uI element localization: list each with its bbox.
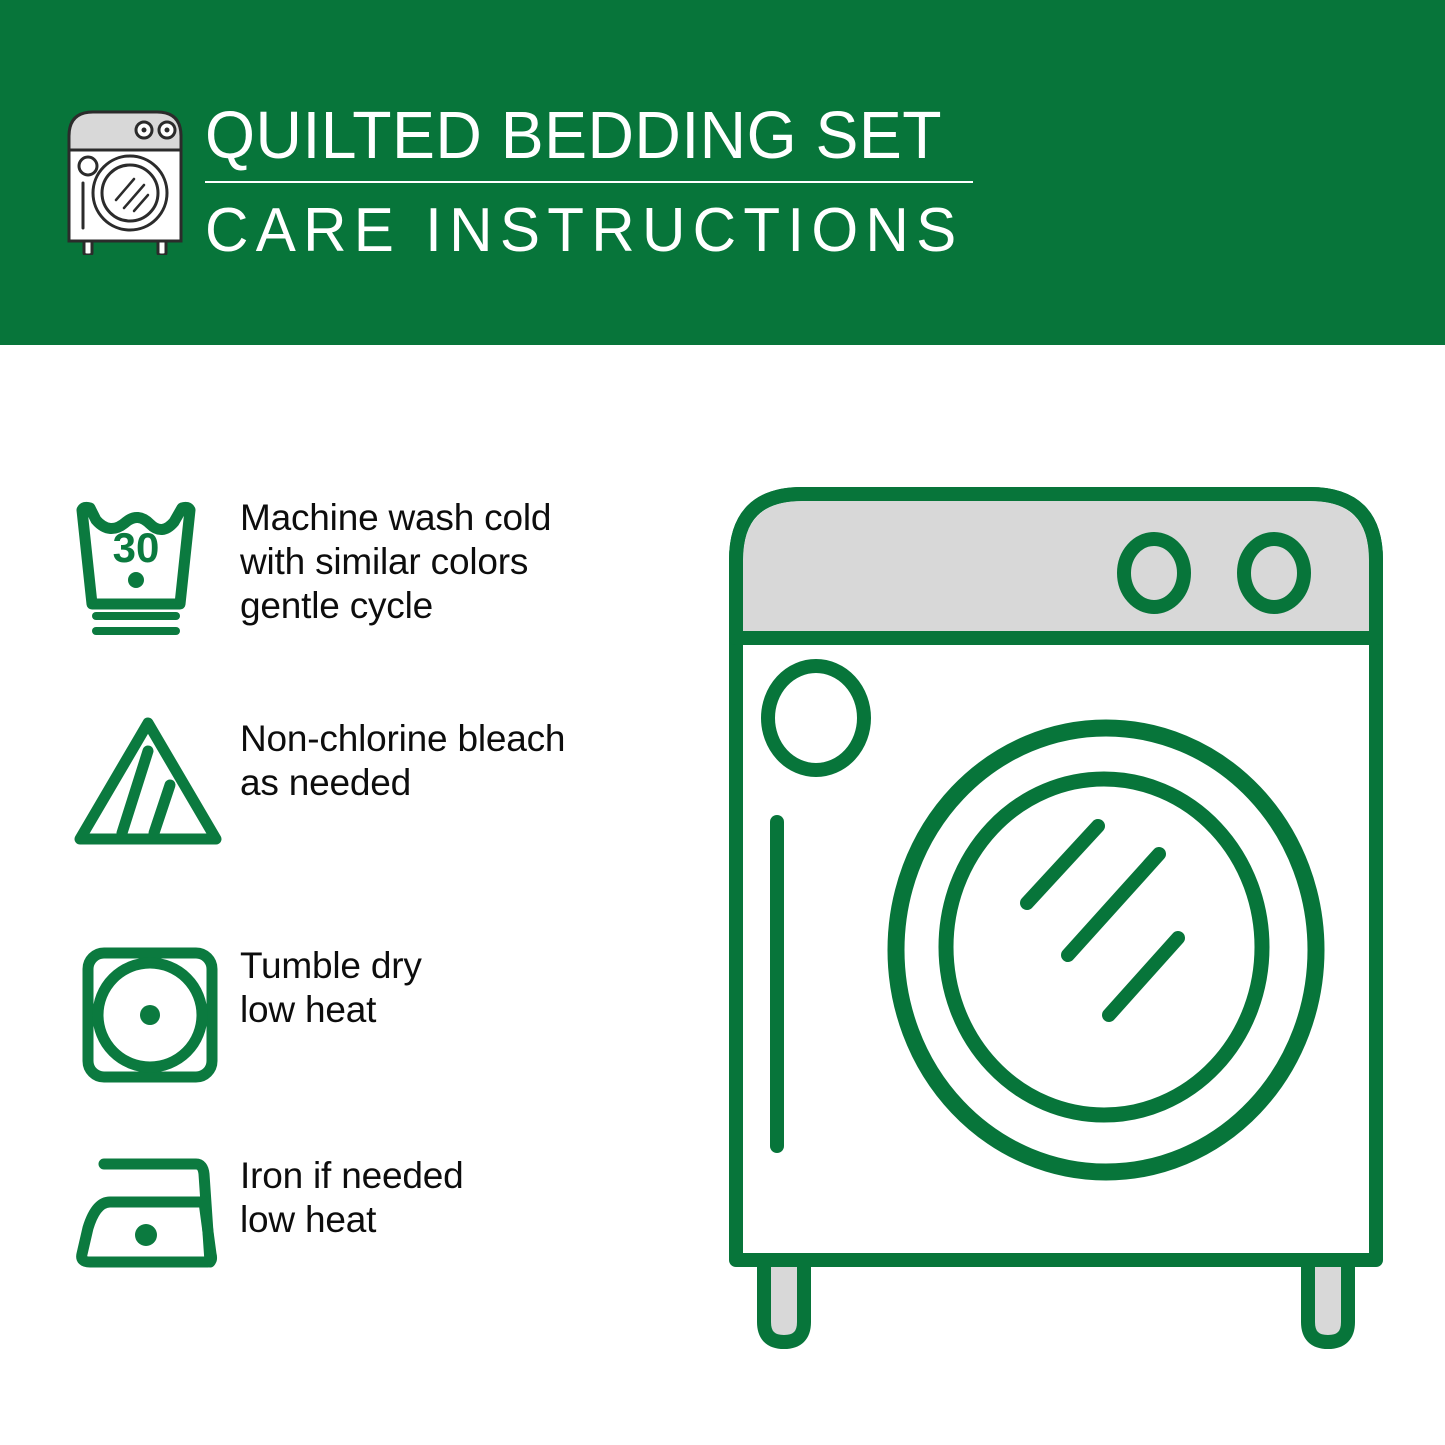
care-label-iron: Iron if needed low heat	[240, 1150, 463, 1242]
tumble-dry-icon	[60, 940, 240, 1090]
wash-tub-icon: 30	[60, 492, 240, 642]
care-row-iron: Iron if needed low heat	[60, 1150, 700, 1280]
header-banner: QUILTED BEDDING SET CARE INSTRUCTIONS	[0, 0, 1445, 345]
page-title: QUILTED BEDDING SET	[205, 96, 963, 176]
care-instructions-infographic: QUILTED BEDDING SET CARE INSTRUCTIONS 30…	[0, 0, 1445, 1445]
care-label-tumble-dry: Tumble dry low heat	[240, 940, 422, 1032]
care-label-wash: Machine wash cold with similar colors ge…	[240, 492, 551, 628]
care-row-wash: 30 Machine wash cold with similar colors…	[60, 492, 700, 642]
title-divider	[205, 181, 973, 183]
care-row-bleach: Non-chlorine bleach as needed	[60, 713, 700, 853]
bleach-triangle-icon	[60, 713, 240, 853]
care-label-bleach: Non-chlorine bleach as needed	[240, 713, 565, 805]
page-subtitle: CARE INSTRUCTIONS	[205, 196, 971, 266]
iron-icon	[60, 1150, 240, 1280]
washing-machine-icon	[62, 103, 188, 255]
header-text-block: QUILTED BEDDING SET CARE INSTRUCTIONS	[205, 96, 995, 266]
washing-machine-illustration	[716, 470, 1396, 1370]
care-row-tumble-dry: Tumble dry low heat	[60, 940, 700, 1090]
svg-text:30: 30	[113, 524, 160, 571]
